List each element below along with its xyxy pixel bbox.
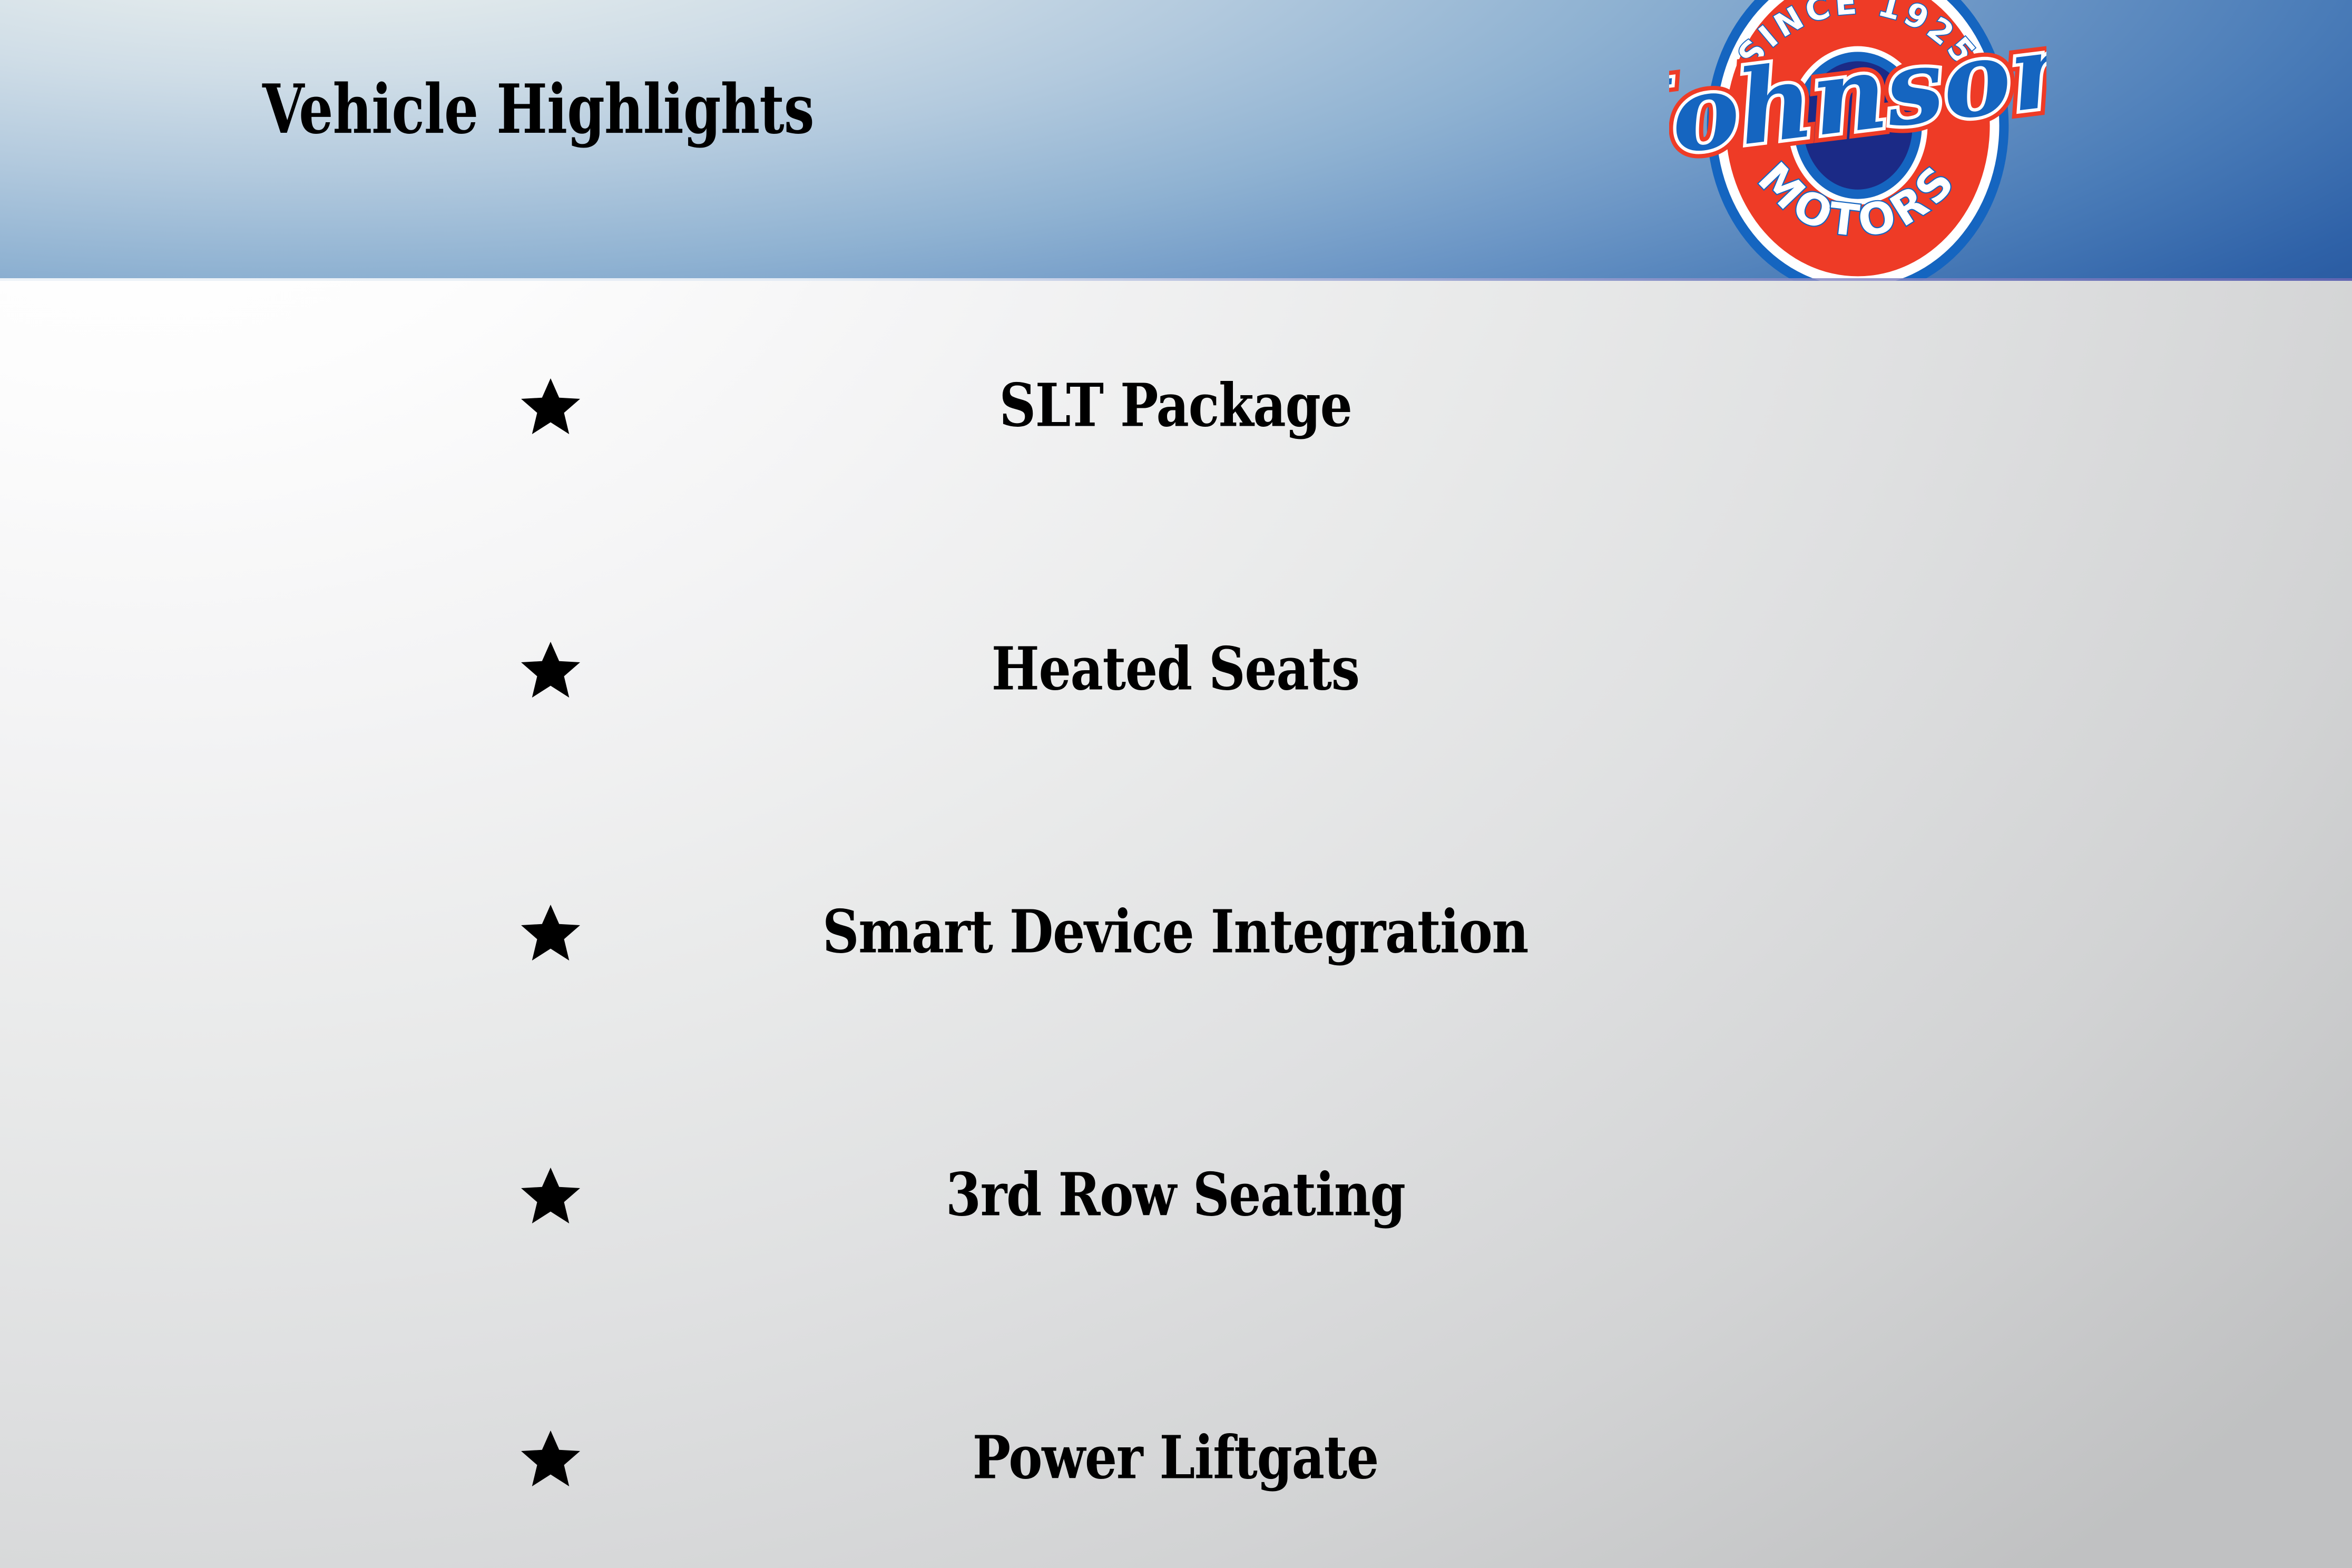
vehicle-highlights-list: SLT Package Heated Seats Smart Device In… xyxy=(0,281,2352,1568)
vehicle-highlights-slide: Vehicle Highlights xyxy=(0,0,2352,1568)
list-item: Power Liftgate xyxy=(0,1406,2352,1511)
list-item-label: Heated Seats xyxy=(0,638,2352,702)
page-title: Vehicle Highlights xyxy=(262,76,814,143)
list-item: Smart Device Integration xyxy=(0,880,2352,985)
list-item: 3rd Row Seating xyxy=(0,1143,2352,1248)
list-item-label: 3rd Row Seating xyxy=(0,1164,2352,1228)
list-item-label: Smart Device Integration xyxy=(0,901,2352,965)
list-item-label: Power Liftgate xyxy=(0,1427,2352,1491)
list-item-label: SLT Package xyxy=(0,375,2352,438)
list-item: Heated Seats xyxy=(0,617,2352,722)
slide-header-band: Vehicle Highlights xyxy=(0,0,2352,281)
list-item: SLT Package xyxy=(0,354,2352,459)
johnson-motors-logo: SINCE 1925 MOTORS Johnson Johnson xyxy=(1669,0,2046,281)
